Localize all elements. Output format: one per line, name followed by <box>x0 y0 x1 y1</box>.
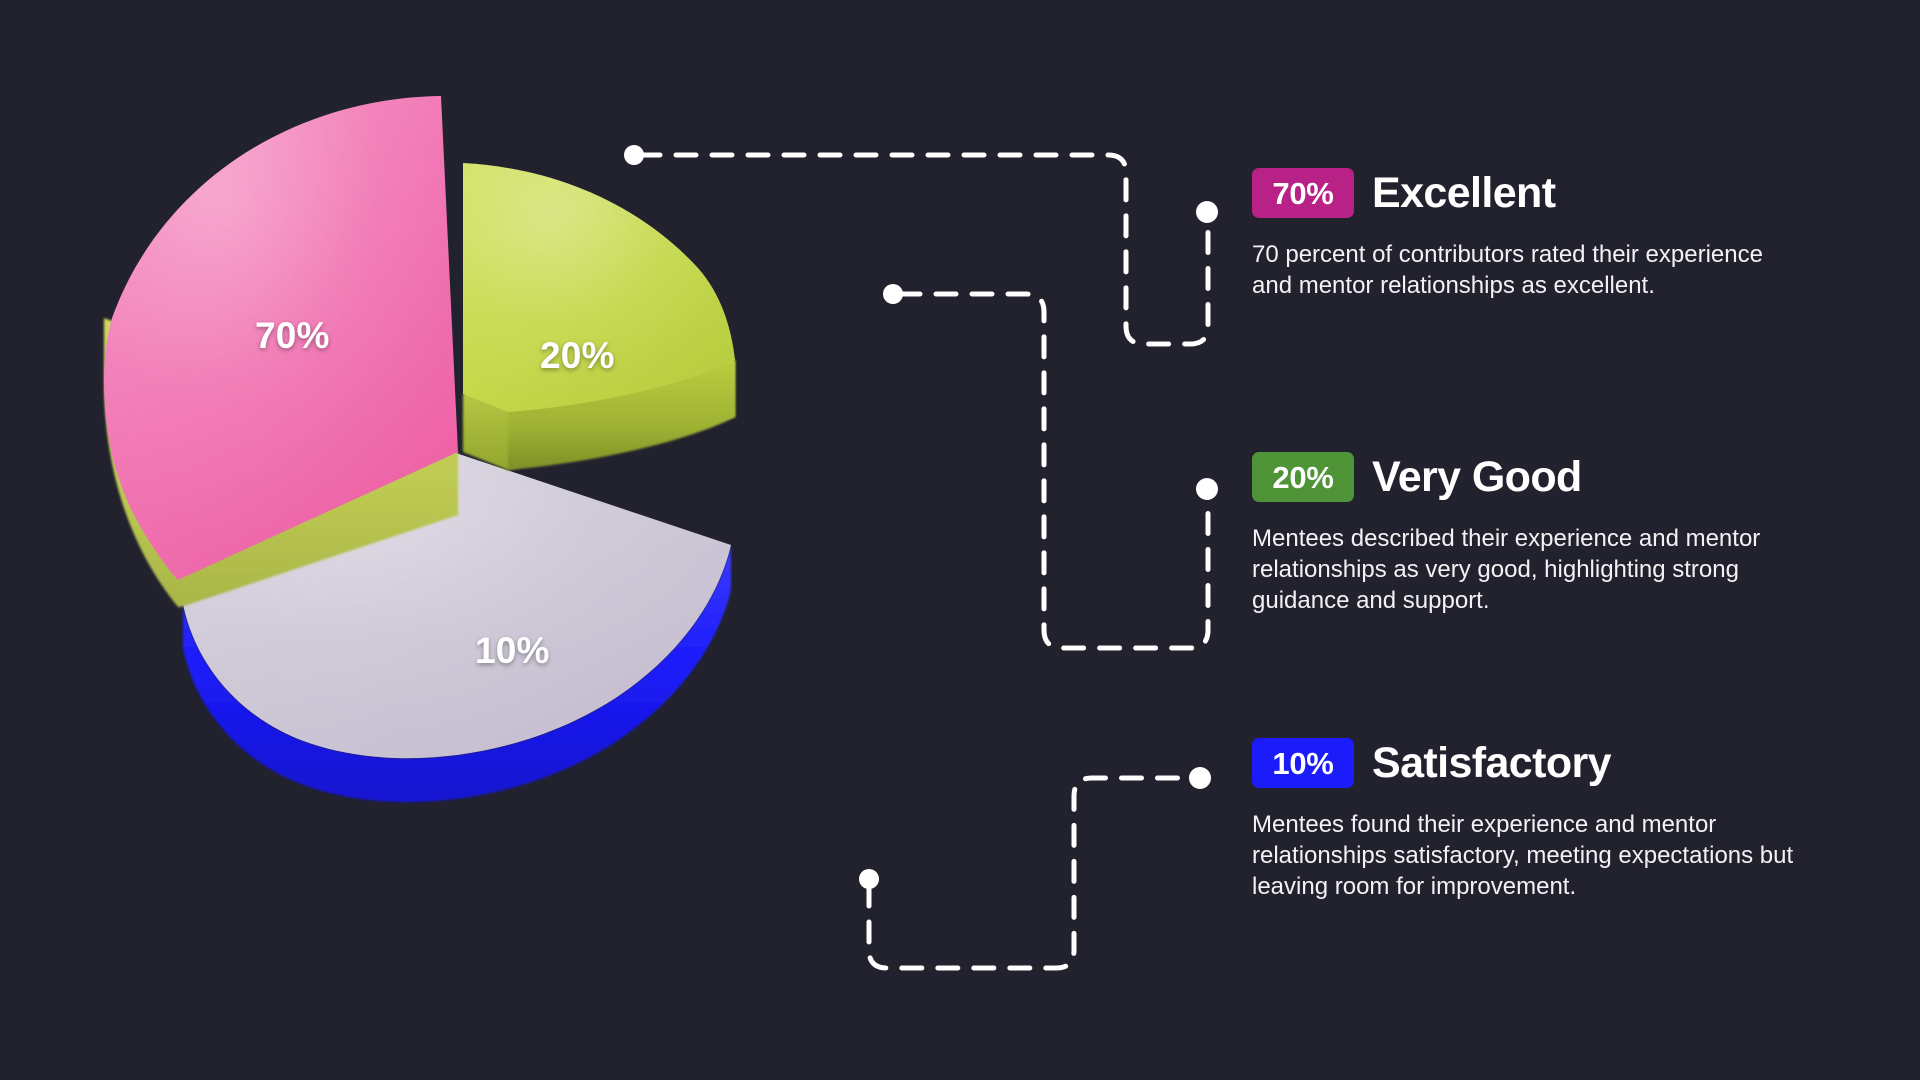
legend-title-very-good: Very Good <box>1372 456 1582 499</box>
badge-satisfactory: 10% <box>1252 738 1354 788</box>
legend-item-very-good[interactable]: 20% Very Good Mentees described their ex… <box>1252 452 1852 617</box>
legend-head-very-good: 20% Very Good <box>1252 452 1852 502</box>
pie-slice-very-good[interactable] <box>463 163 735 470</box>
pie-slice-excellent[interactable] <box>104 96 458 609</box>
infographic-canvas: 70% 20% 10% 70% Excellent 70 percent <box>0 0 1920 1080</box>
legend-item-satisfactory[interactable]: 10% Satisfactory Mentees found their exp… <box>1252 738 1852 903</box>
legend-description-excellent: 70 percent of contributors rated their e… <box>1252 239 1797 301</box>
legend-title-satisfactory: Satisfactory <box>1372 742 1611 785</box>
pie-chart: 70% 20% 10% <box>0 0 980 1000</box>
legend-description-very-good: Mentees described their experience and m… <box>1252 523 1822 617</box>
legend-head-excellent: 70% Excellent <box>1252 168 1852 218</box>
badge-very-good: 20% <box>1252 452 1354 502</box>
legend-head-satisfactory: 10% Satisfactory <box>1252 738 1852 788</box>
connector-dot-legend-excellent <box>1196 201 1218 223</box>
badge-excellent: 70% <box>1252 168 1354 218</box>
legend-item-excellent[interactable]: 70% Excellent 70 percent of contributors… <box>1252 168 1852 301</box>
connector-dot-legend-very-good <box>1196 478 1218 500</box>
pie-chart-svg <box>0 0 980 1000</box>
connector-dot-legend-satisfactory <box>1189 767 1211 789</box>
legend-description-satisfactory: Mentees found their experience and mento… <box>1252 809 1822 903</box>
legend-title-excellent: Excellent <box>1372 172 1555 215</box>
